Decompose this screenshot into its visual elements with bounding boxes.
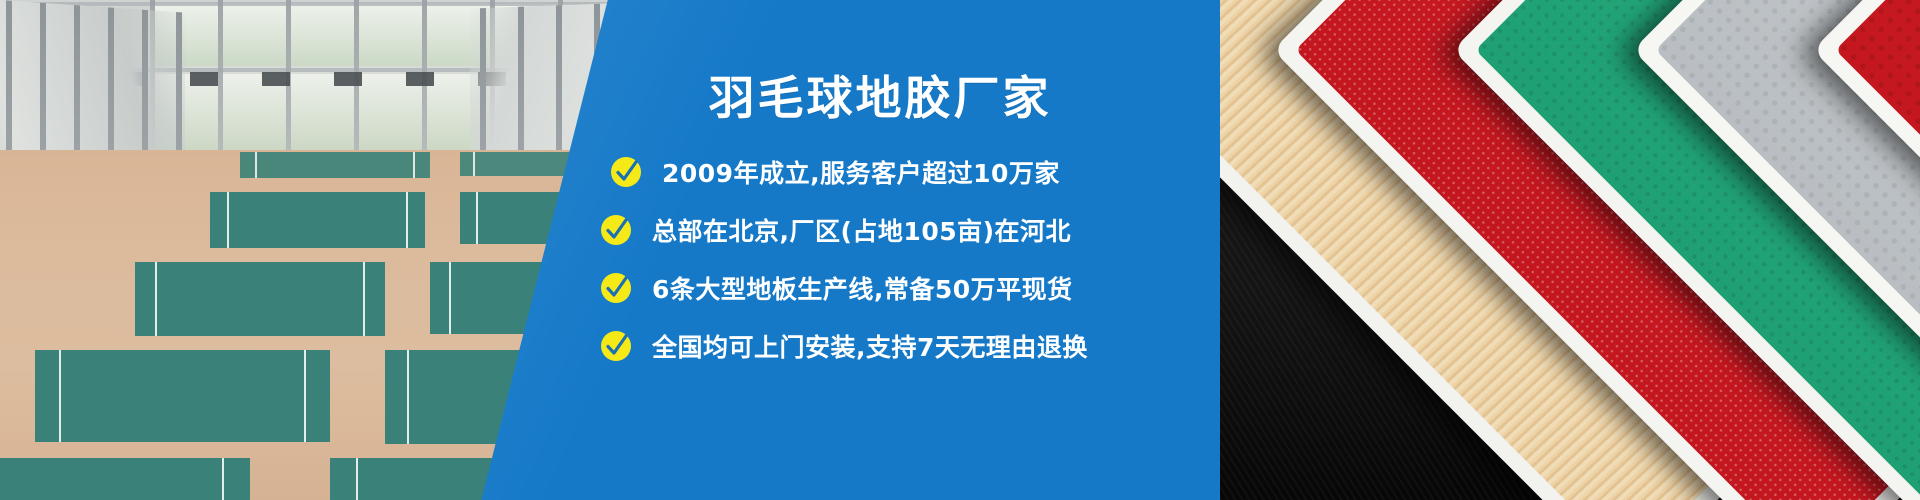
- check-circle-icon: [600, 330, 632, 362]
- check-circle-icon: [600, 214, 632, 246]
- feature-text: 全国均可上门安装,支持7天无理由退换: [652, 328, 1088, 364]
- banner-content: 羽毛球地胶厂家 2009年成立,服务客户超过10万家: [600, 0, 1160, 500]
- check-circle-icon: [610, 156, 642, 188]
- list-item: 总部在北京,厂区(占地105亩)在河北: [600, 212, 1160, 248]
- check-circle-icon: [600, 272, 632, 304]
- feature-text: 总部在北京,厂区(占地105亩)在河北: [652, 212, 1071, 248]
- list-item: 全国均可上门安装,支持7天无理由退换: [600, 328, 1160, 364]
- page-title: 羽毛球地胶厂家: [600, 62, 1160, 128]
- feature-list: 2009年成立,服务客户超过10万家 总部在北京,厂区(占地105亩)在河北: [600, 154, 1160, 364]
- list-item: 2009年成立,服务客户超过10万家: [600, 154, 1160, 190]
- list-item: 6条大型地板生产线,常备50万平现货: [600, 270, 1160, 306]
- pvc-flooring-samples-photo: [1100, 0, 1920, 500]
- feature-text: 6条大型地板生产线,常备50万平现货: [652, 270, 1073, 306]
- promo-banner: 羽毛球地胶厂家 2009年成立,服务客户超过10万家: [0, 0, 1920, 500]
- feature-text: 2009年成立,服务客户超过10万家: [662, 154, 1060, 190]
